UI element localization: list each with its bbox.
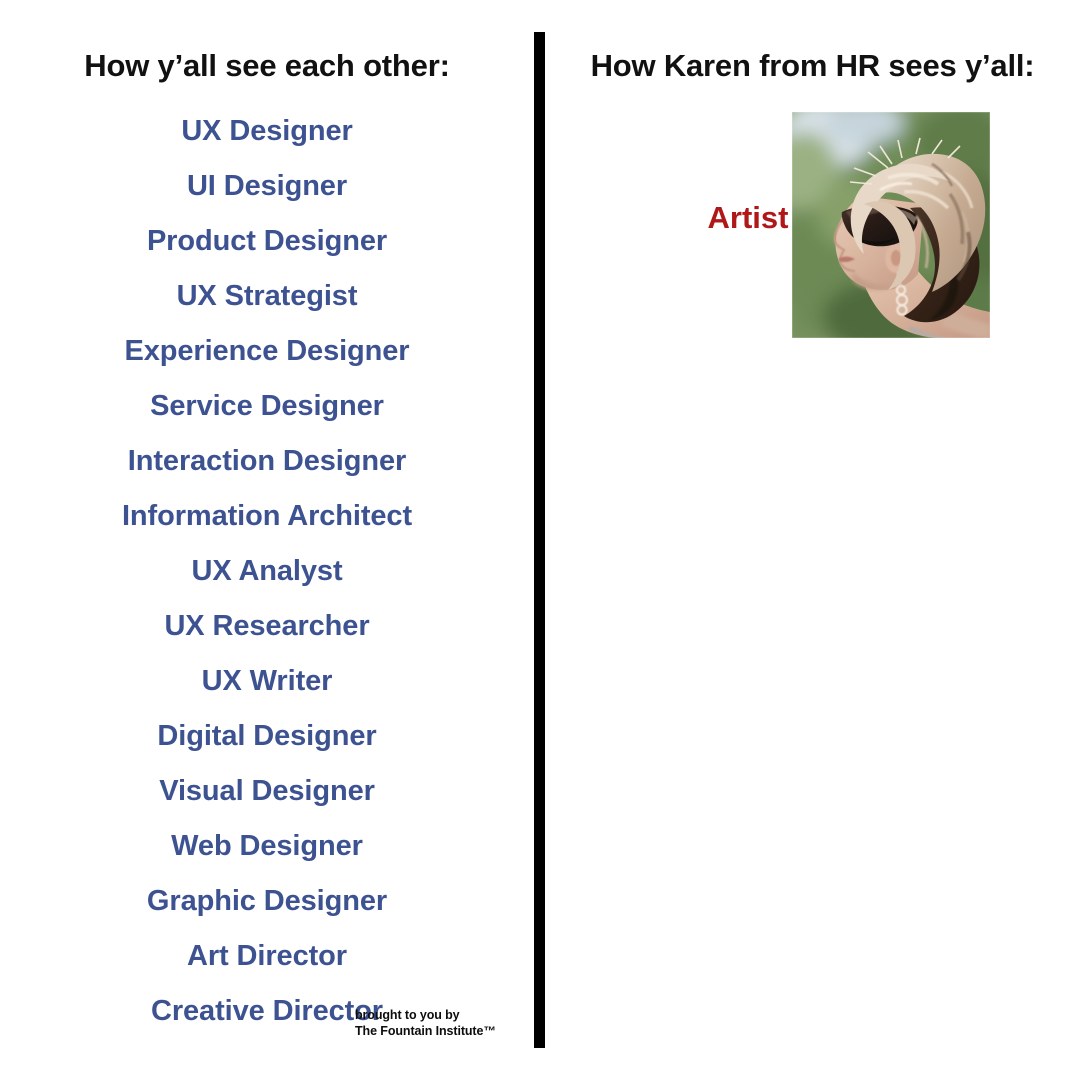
woman-profile-illustration xyxy=(792,112,990,338)
meme-image: How y’all see each other: UX Designer UI… xyxy=(0,0,1080,1080)
list-item: UX Analyst xyxy=(0,544,534,599)
list-item: Art Director xyxy=(0,929,534,984)
list-item: Experience Designer xyxy=(0,324,534,379)
left-panel: How y’all see each other: UX Designer UI… xyxy=(0,0,534,1080)
vertical-divider xyxy=(534,32,545,1048)
list-item: UX Designer xyxy=(0,104,534,159)
list-item: Information Architect xyxy=(0,489,534,544)
list-item: Interaction Designer xyxy=(0,434,534,489)
attribution-line-1: brought to you by xyxy=(355,1007,496,1023)
list-item: Product Designer xyxy=(0,214,534,269)
left-panel-heading: How y’all see each other: xyxy=(0,48,534,84)
right-panel: How Karen from HR sees y’all: Artist xyxy=(545,0,1080,1080)
karen-photo xyxy=(792,112,990,338)
list-item: UI Designer xyxy=(0,159,534,214)
list-item: Service Designer xyxy=(0,379,534,434)
list-item: Visual Designer xyxy=(0,764,534,819)
list-item: Graphic Designer xyxy=(0,874,534,929)
list-item: UX Strategist xyxy=(0,269,534,324)
attribution-line-2: The Fountain Institute™ xyxy=(355,1023,496,1039)
list-item: UX Writer xyxy=(0,654,534,709)
list-item: Digital Designer xyxy=(0,709,534,764)
right-panel-heading: How Karen from HR sees y’all: xyxy=(545,48,1080,84)
job-title-list: UX Designer UI Designer Product Designer… xyxy=(0,104,534,1039)
list-item: UX Researcher xyxy=(0,599,534,654)
list-item: Web Designer xyxy=(0,819,534,874)
attribution: brought to you by The Fountain Institute… xyxy=(355,1007,496,1039)
